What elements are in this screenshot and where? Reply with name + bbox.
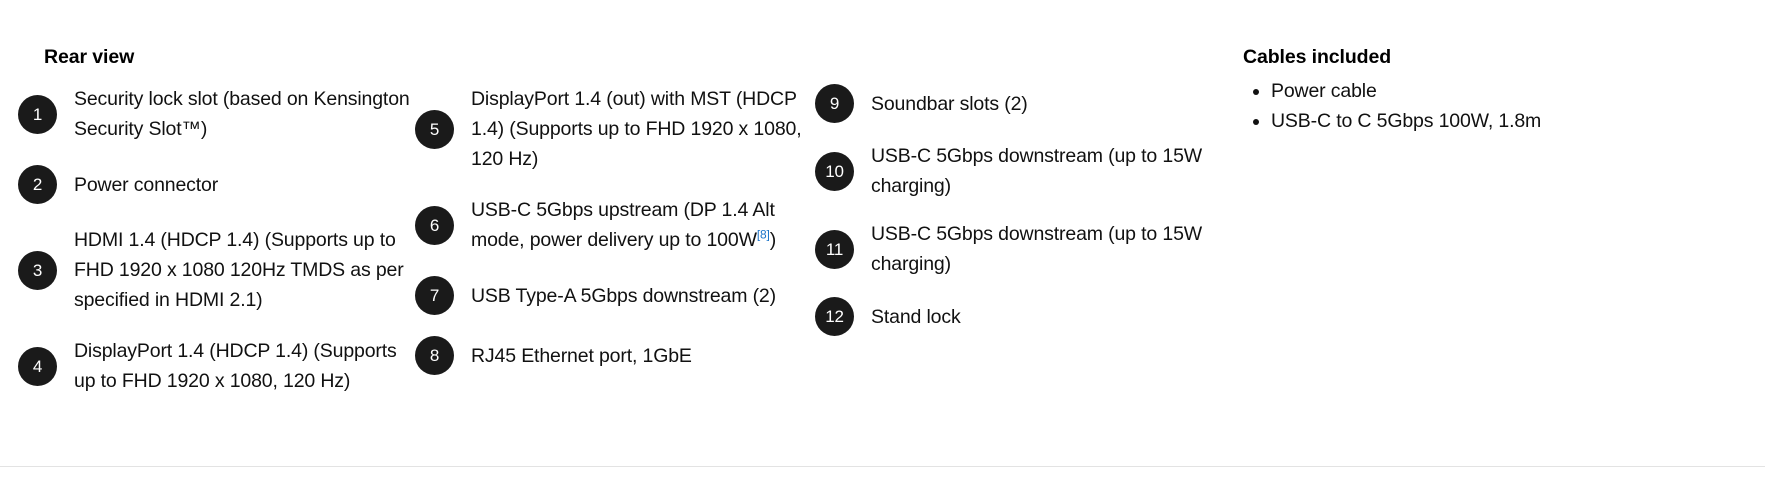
spec-item-2: 2 Power connector (18, 165, 418, 204)
number-badge-8: 8 (415, 336, 454, 375)
number-badge-3: 3 (18, 251, 57, 290)
spec-label-6-main: USB-C 5Gbps upstream (DP 1.4 Alt mode, p… (471, 199, 775, 251)
spec-item-7: 7 USB Type-A 5Gbps downstream (2) (415, 276, 820, 315)
rear-view-column-3: 9 Soundbar slots (2) 10 USB-C 5Gbps down… (815, 84, 1225, 354)
spec-item-5: 5 DisplayPort 1.4 (out) with MST (HDCP 1… (415, 84, 820, 174)
number-badge-2: 2 (18, 165, 57, 204)
spec-label-4: DisplayPort 1.4 (HDCP 1.4) (Supports up … (74, 336, 418, 396)
spec-label-8: RJ45 Ethernet port, 1GbE (471, 341, 692, 371)
cables-included-heading: Cables included (1243, 46, 1391, 69)
rear-view-column-1: 1 Security lock slot (based on Kensingto… (18, 84, 418, 417)
spec-label-10: USB-C 5Gbps downstream (up to 15W chargi… (871, 141, 1225, 201)
spec-label-5: DisplayPort 1.4 (out) with MST (HDCP 1.4… (471, 84, 820, 174)
spec-label-1: Security lock slot (based on Kensington … (74, 84, 418, 144)
number-badge-4: 4 (18, 347, 57, 386)
number-badge-5: 5 (415, 110, 454, 149)
spec-item-3: 3 HDMI 1.4 (HDCP 1.4) (Supports up to FH… (18, 225, 418, 315)
footnote-marker-8[interactable]: [8] (757, 228, 770, 242)
rear-view-column-2: 5 DisplayPort 1.4 (out) with MST (HDCP 1… (415, 84, 820, 396)
cables-list-item: USB-C to C 5Gbps 100W, 1.8m (1271, 106, 1541, 136)
number-badge-10: 10 (815, 152, 854, 191)
cables-included-list: Power cable USB-C to C 5Gbps 100W, 1.8m (1243, 76, 1541, 136)
spec-label-11: USB-C 5Gbps downstream (up to 15W chargi… (871, 219, 1225, 279)
spec-label-2: Power connector (74, 170, 218, 200)
number-badge-12: 12 (815, 297, 854, 336)
rear-view-heading: Rear view (44, 46, 134, 69)
number-badge-7: 7 (415, 276, 454, 315)
spec-label-12: Stand lock (871, 302, 961, 332)
cables-list-item: Power cable (1271, 76, 1541, 106)
spec-sheet-page: Rear view 1 Security lock slot (based on… (0, 0, 1765, 501)
spec-item-10: 10 USB-C 5Gbps downstream (up to 15W cha… (815, 141, 1225, 201)
number-badge-9: 9 (815, 84, 854, 123)
spec-label-6-tail: ) (770, 229, 776, 251)
number-badge-6: 6 (415, 206, 454, 245)
spec-item-9: 9 Soundbar slots (2) (815, 84, 1225, 123)
number-badge-1: 1 (18, 95, 57, 134)
bottom-divider (0, 466, 1765, 467)
spec-label-3: HDMI 1.4 (HDCP 1.4) (Supports up to FHD … (74, 225, 418, 315)
spec-item-1: 1 Security lock slot (based on Kensingto… (18, 84, 418, 144)
spec-item-4: 4 DisplayPort 1.4 (HDCP 1.4) (Supports u… (18, 336, 418, 396)
spec-item-11: 11 USB-C 5Gbps downstream (up to 15W cha… (815, 219, 1225, 279)
spec-label-9: Soundbar slots (2) (871, 89, 1028, 119)
spec-label-6: USB-C 5Gbps upstream (DP 1.4 Alt mode, p… (471, 195, 820, 255)
spec-label-7: USB Type-A 5Gbps downstream (2) (471, 281, 776, 311)
number-badge-11: 11 (815, 230, 854, 269)
spec-item-6: 6 USB-C 5Gbps upstream (DP 1.4 Alt mode,… (415, 195, 820, 255)
spec-item-12: 12 Stand lock (815, 297, 1225, 336)
spec-item-8: 8 RJ45 Ethernet port, 1GbE (415, 336, 820, 375)
